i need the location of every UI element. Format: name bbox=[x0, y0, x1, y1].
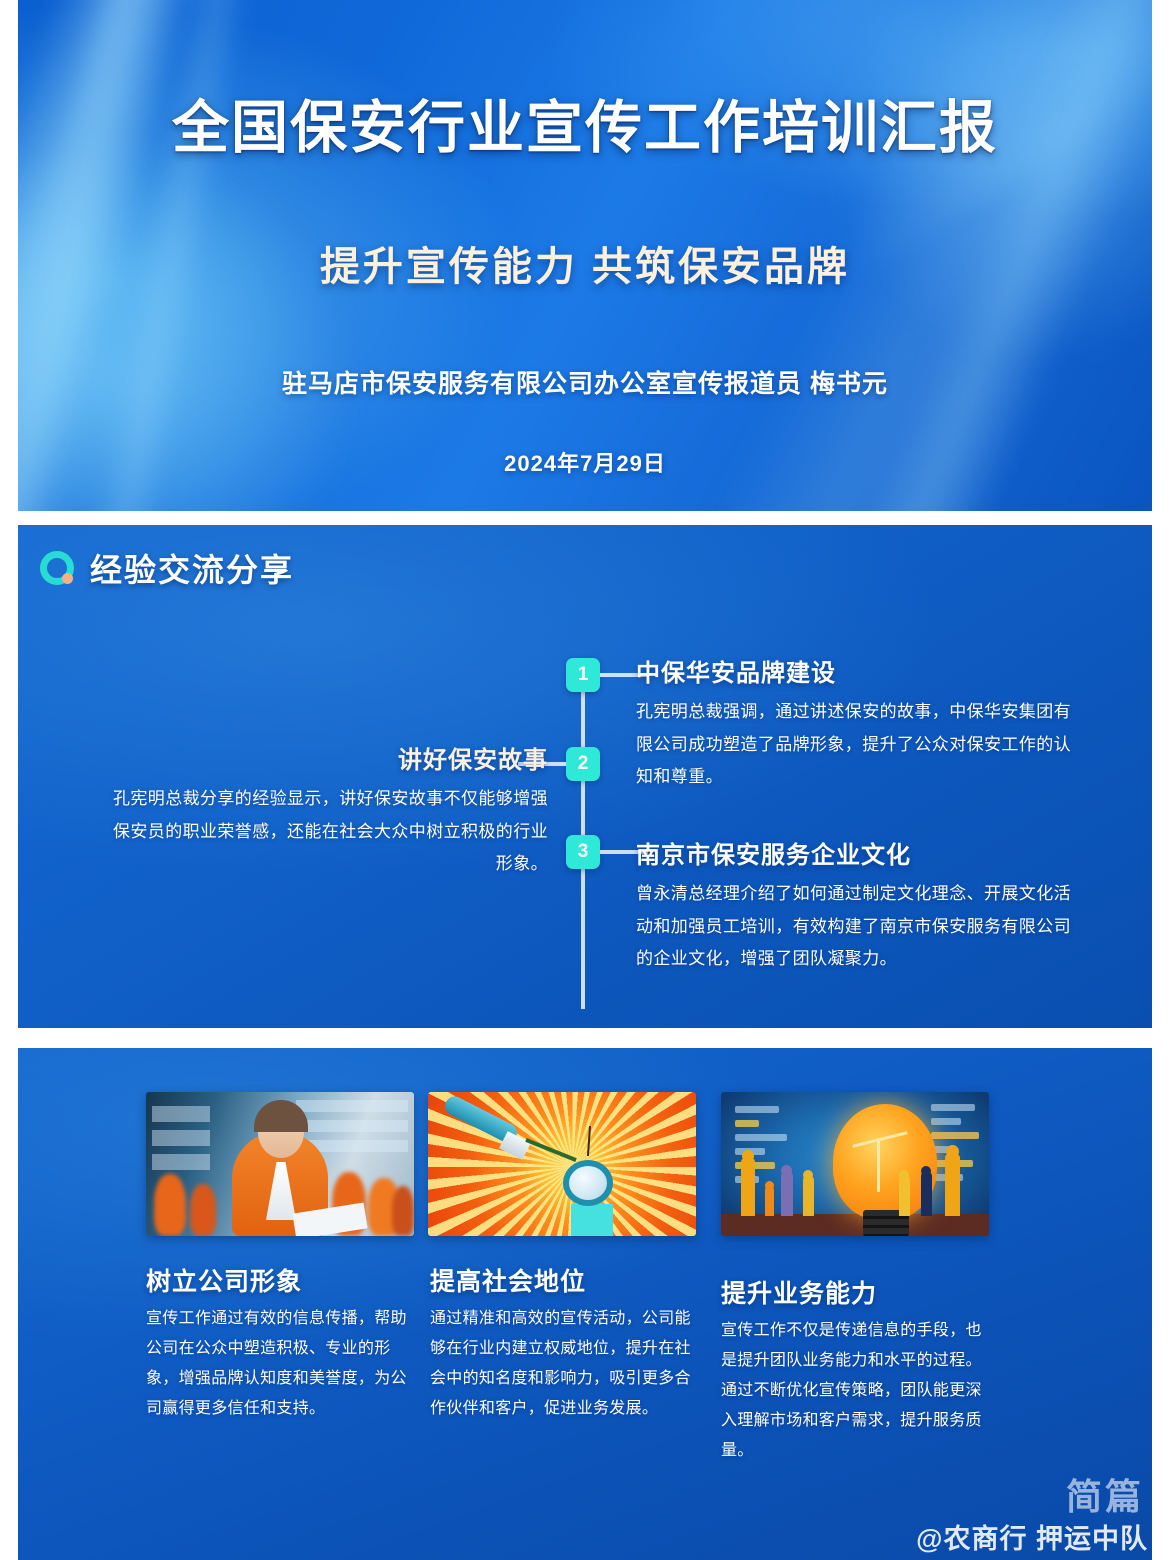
benefit-card: 提升业务能力 宣传工作不仅是传递信息的手段，也是提升团队业务能力和水平的过程。通… bbox=[709, 1092, 984, 1466]
benefit-card-body: 通过精准和高效的宣传活动，公司能够在行业内建立权威地位，提升在社会中的知名度和影… bbox=[428, 1304, 703, 1424]
benefit-card-title: 提升业务能力 bbox=[709, 1274, 984, 1310]
card-grid: 树立公司形象 宣传工作通过有效的信息传播，帮助公司在公众中塑造积极、专业的形象，… bbox=[18, 1048, 1152, 1560]
timeline: 1 2 3 中保华安品牌建设 孔宪明总裁强调，通过讲述保安的故事，中保华安集团有… bbox=[18, 525, 1152, 1028]
presentation-subtitle: 提升宣传能力 共筑保安品牌 bbox=[18, 234, 1152, 292]
timeline-item-title: 南京市保安服务企业文化 bbox=[636, 835, 1076, 870]
timeline-item: 南京市保安服务企业文化 曾永清总经理介绍了如何通过制定文化理念、开展文化活动和加… bbox=[636, 835, 1076, 976]
businesswoman-orange-blazer-photo bbox=[146, 1092, 414, 1236]
presentation-title: 全国保安行业宣传工作培训汇报 bbox=[18, 82, 1152, 164]
timeline-item-body: 曾永清总经理介绍了如何通过制定文化理念、开展文化活动和加强员工培训，有效构建了南… bbox=[636, 878, 1076, 976]
timeline-node-3: 3 bbox=[566, 835, 600, 869]
timeline-item-body: 孔宪明总裁分享的经验显示，讲好保安故事不仅能够增强保安员的职业荣誉感，还能在社会… bbox=[98, 783, 548, 881]
timeline-node-2: 2 bbox=[566, 747, 600, 781]
timeline-item-title: 中保华安品牌建设 bbox=[636, 653, 1076, 688]
timeline-item: 中保华安品牌建设 孔宪明总裁强调，通过讲述保安的故事，中保华安集团有限公司成功塑… bbox=[636, 653, 1076, 794]
benefit-card-title: 提高社会地位 bbox=[428, 1262, 703, 1298]
slide-experience-sharing: 经验交流分享 1 2 3 中保华安品牌建设 孔宪明总裁强调，通过讲述保安的故事，… bbox=[18, 525, 1152, 1028]
benefit-card: 提高社会地位 通过精准和高效的宣传活动，公司能够在行业内建立权威地位，提升在社会… bbox=[428, 1092, 703, 1424]
timeline-item-title: 讲好保安故事 bbox=[98, 740, 548, 775]
timeline-item: 讲好保安故事 孔宪明总裁分享的经验显示，讲好保安故事不仅能够增强保安员的职业荣誉… bbox=[98, 740, 548, 881]
timeline-node-1: 1 bbox=[566, 658, 600, 692]
benefit-card-title: 树立公司形象 bbox=[146, 1262, 421, 1298]
user-watermark: @农商行 押运中队 bbox=[916, 1517, 1148, 1556]
magnifying-glass-burst-illustration bbox=[428, 1092, 696, 1236]
presentation-page: 全国保安行业宣传工作培训汇报 提升宣传能力 共筑保安品牌 驻马店市保安服务有限公… bbox=[0, 0, 1170, 1560]
slide-title: 全国保安行业宣传工作培训汇报 提升宣传能力 共筑保安品牌 驻马店市保安服务有限公… bbox=[18, 0, 1152, 511]
presentation-author: 驻马店市保安服务有限公司办公室宣传报道员 梅书元 bbox=[18, 364, 1152, 400]
timeline-item-body: 孔宪明总裁强调，通过讲述保安的故事，中保华安集团有限公司成功塑造了品牌形象，提升… bbox=[636, 696, 1076, 794]
benefit-card: 树立公司形象 宣传工作通过有效的信息传播，帮助公司在公众中塑造积极、专业的形象，… bbox=[146, 1092, 421, 1424]
presentation-date: 2024年7月29日 bbox=[18, 446, 1152, 478]
slide-benefit-cards: 树立公司形象 宣传工作通过有效的信息传播，帮助公司在公众中塑造积极、专业的形象，… bbox=[18, 1048, 1152, 1560]
benefit-card-body: 宣传工作通过有效的信息传播，帮助公司在公众中塑造积极、专业的形象，增强品牌认知度… bbox=[146, 1304, 421, 1424]
lightbulb-people-idea-illustration bbox=[721, 1092, 989, 1236]
benefit-card-body: 宣传工作不仅是传递信息的手段，也是提升团队业务能力和水平的过程。通过不断优化宣传… bbox=[709, 1316, 984, 1466]
brand-watermark: 简篇 bbox=[1066, 1468, 1144, 1520]
